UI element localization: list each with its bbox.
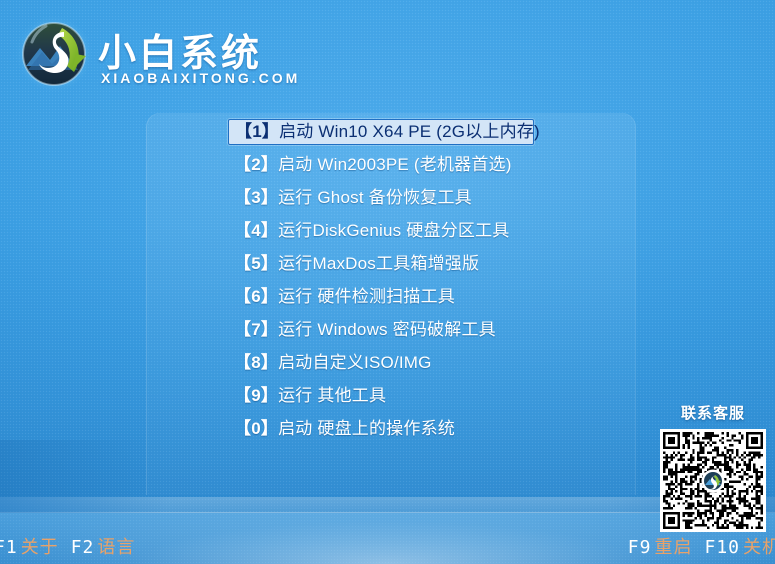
menu-item-3[interactable]: 【3】运行 Ghost 备份恢复工具 [228,185,534,211]
menu-item-2-number: 【2】 [234,155,278,174]
fkey-f2[interactable]: F2 [71,537,95,558]
menu-item-1[interactable]: 【1】启动 Win10 X64 PE (2G以上内存) [228,119,534,145]
menu-item-5-label: 运行MaxDos工具箱增强版 [278,254,479,273]
menu-item-9[interactable]: 【9】运行 其他工具 [228,383,534,409]
globe-recycle-logo-icon [12,12,96,96]
fkey-f1-desc: 关于 [21,537,59,557]
fkey-f9-desc: 重启 [654,537,692,557]
menu-item-4[interactable]: 【4】运行DiskGenius 硬盘分区工具 [228,218,534,244]
menu-item-4-label: 运行DiskGenius 硬盘分区工具 [278,221,509,240]
brand-name-zh: 小白系统 [98,22,262,77]
fkey-f10[interactable]: F10 [704,537,740,558]
menu-item-5[interactable]: 【5】运行MaxDos工具箱增强版 [228,251,534,277]
stage-left-shadow [0,440,150,497]
menu-item-4-number: 【4】 [234,221,278,240]
menu-item-0-label: 启动 硬盘上的操作系统 [278,419,455,438]
menu-item-8-label: 启动自定义ISO/IMG [278,353,432,372]
menu-item-6-number: 【6】 [234,287,278,306]
footer-right-keys: F9重启F10关机 [628,533,775,559]
menu-item-0[interactable]: 【0】启动 硬盘上的操作系统 [228,416,534,442]
boot-menu-screen: 小白系统 XIAOBAIXITONG.COM 【1】启动 Win10 X64 P… [0,0,775,564]
menu-item-2-label: 启动 Win2003PE (老机器首选) [278,155,512,174]
menu-item-7[interactable]: 【7】运行 Windows 密码破解工具 [228,317,534,343]
fkey-f10-desc: 关机 [743,537,775,557]
menu-item-3-label: 运行 Ghost 备份恢复工具 [278,188,472,207]
menu-item-6-label: 运行 硬件检测扫描工具 [278,287,455,306]
menu-item-9-label: 运行 其他工具 [278,386,386,405]
menu-item-9-number: 【9】 [234,386,278,405]
brand-logo: 小白系统 XIAOBAIXITONG.COM [8,6,288,104]
boot-menu-list[interactable]: 【1】启动 Win10 X64 PE (2G以上内存) 【2】启动 Win200… [228,119,534,449]
menu-item-8-number: 【8】 [234,353,278,372]
menu-item-2[interactable]: 【2】启动 Win2003PE (老机器首选) [228,152,534,178]
footer-left-keys: F1关于F2语言 [0,533,135,559]
qr-center-logo-icon [703,471,723,491]
customer-service-block: 联系客服 [657,402,769,532]
menu-item-5-number: 【5】 [234,254,278,273]
fkey-f1[interactable]: F1 [0,537,18,558]
menu-item-0-number: 【0】 [234,419,278,438]
menu-item-3-number: 【3】 [234,188,278,207]
menu-item-7-label: 运行 Windows 密码破解工具 [278,320,496,339]
menu-item-7-number: 【7】 [234,320,278,339]
menu-item-1-label: 启动 Win10 X64 PE (2G以上内存) [279,122,540,141]
brand-site-url: XIAOBAIXITONG.COM [101,70,300,86]
fkey-f9[interactable]: F9 [628,537,652,558]
fkey-f2-desc: 语言 [97,537,135,557]
menu-item-1-number: 【1】 [235,122,279,141]
menu-item-8[interactable]: 【8】启动自定义ISO/IMG [228,350,534,376]
menu-item-6[interactable]: 【6】运行 硬件检测扫描工具 [228,284,534,310]
customer-service-label: 联系客服 [657,402,769,423]
qr-code-icon [660,429,766,532]
